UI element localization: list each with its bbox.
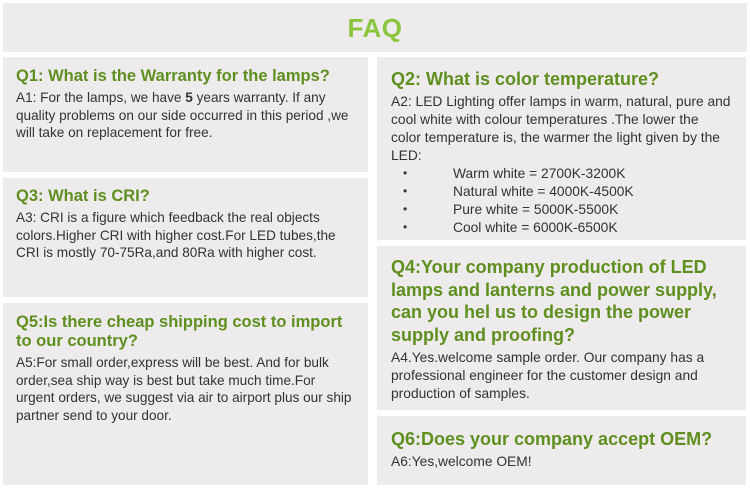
question-heading-q4: Q4:Your company production of LED lamps … xyxy=(391,256,732,346)
answer-text-q3: A3: CRI is a figure which feedback the r… xyxy=(16,209,355,262)
answer-q1-part1: A1: For the lamps, we have xyxy=(16,90,185,105)
question-heading-q1: Q1: What is the Warranty for the lamps? xyxy=(16,67,355,86)
list-item: Natural white = 4000K-4500K xyxy=(391,183,732,201)
question-heading-q6: Q6:Does your company accept OEM? xyxy=(391,428,732,450)
answer-text-q1: A1: For the lamps, we have 5 years warra… xyxy=(16,89,355,142)
faq-header-banner: FAQ xyxy=(3,3,747,52)
page-title: FAQ xyxy=(348,15,403,41)
faq-page: FAQ Q1: What is the Warranty for the lam… xyxy=(0,0,750,500)
question-heading-q5: Q5:Is there cheap shipping cost to impor… xyxy=(16,313,355,351)
answer-text-q4: A4.Yes.welcome sample order. Our company… xyxy=(391,349,732,403)
list-item: Cool white = 6000K-6500K xyxy=(391,219,732,237)
faq-item-q3: Q3: What is CRI? A3: CRI is a figure whi… xyxy=(3,178,368,297)
answer-q1-emphasis: 5 xyxy=(185,90,193,105)
faq-item-q5: Q5:Is there cheap shipping cost to impor… xyxy=(3,303,368,485)
faq-item-q1: Q1: What is the Warranty for the lamps? … xyxy=(3,57,368,172)
question-heading-q3: Q3: What is CRI? xyxy=(16,187,355,206)
list-item: Pure white = 5000K-5500K xyxy=(391,201,732,219)
answer-text-q5: A5:For small order,express will be best.… xyxy=(16,354,355,424)
faq-item-q4: Q4:Your company production of LED lamps … xyxy=(377,246,746,410)
color-temperature-list: Warm white = 2700K-3200K Natural white =… xyxy=(391,165,732,237)
faq-item-q6: Q6:Does your company accept OEM? A6:Yes,… xyxy=(377,416,746,485)
answer-text-q6: A6:Yes,welcome OEM! xyxy=(391,453,732,471)
question-heading-q2: Q2: What is color temperature? xyxy=(391,68,732,90)
faq-item-q2: Q2: What is color temperature? A2: LED L… xyxy=(377,57,746,240)
list-item: Warm white = 2700K-3200K xyxy=(391,165,732,183)
answer-text-q2: A2: LED Lighting offer lamps in warm, na… xyxy=(391,93,732,165)
